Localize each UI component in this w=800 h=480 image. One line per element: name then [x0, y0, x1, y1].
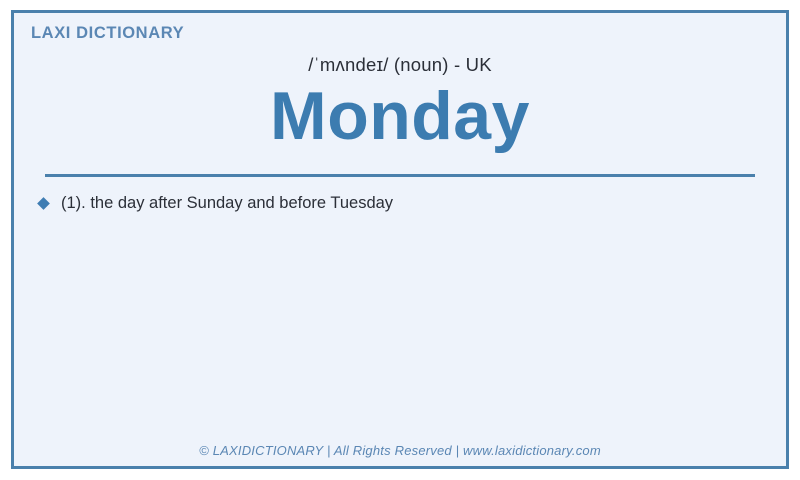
- divider-container: [14, 174, 786, 177]
- footer-copyright: © LAXIDICTIONARY | All Rights Reserved |…: [14, 443, 786, 466]
- headword-title: Monday: [14, 77, 786, 155]
- dictionary-card: LAXI DICTIONARY /ˈmʌndeɪ/ (noun) - UK Mo…: [11, 10, 789, 469]
- page-canvas: LAXI DICTIONARY /ˈmʌndeɪ/ (noun) - UK Mo…: [0, 0, 800, 480]
- definition-list: (1). the day after Sunday and before Tue…: [14, 193, 786, 443]
- brand-title: LAXI DICTIONARY: [31, 24, 184, 43]
- diamond-bullet-icon: [37, 197, 50, 210]
- section-divider: [45, 174, 755, 177]
- pronunciation-text: /ˈmʌndeɪ/ (noun) - UK: [14, 55, 786, 75]
- definition-text: (1). the day after Sunday and before Tue…: [61, 193, 393, 214]
- list-item: (1). the day after Sunday and before Tue…: [39, 193, 786, 214]
